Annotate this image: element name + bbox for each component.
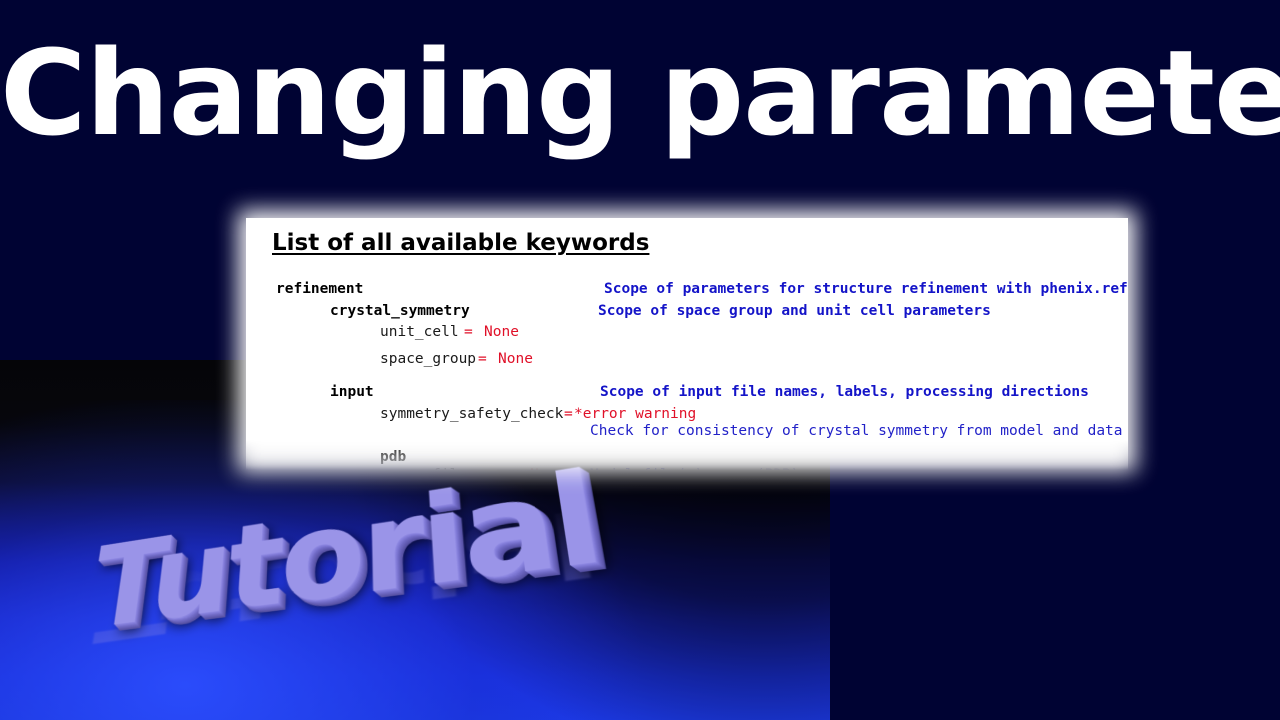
- code-param-space-group: space_group: [380, 352, 476, 367]
- slide-canvas: Tutorial Tutorial Changing parameters Li…: [0, 0, 1280, 720]
- panel-heading: List of all available keywords: [272, 230, 649, 256]
- code-param-unit-cell: unit_cell: [380, 325, 459, 340]
- code-eq-unit-cell: =: [464, 325, 473, 340]
- code-value-space-group: None: [498, 352, 533, 367]
- code-keyword-input: input: [330, 385, 374, 400]
- code-eq-symmetry-safety-check: =: [564, 407, 573, 422]
- panel-surface: List of all available keywords refinemen…: [246, 218, 1128, 470]
- code-eq-space-group: =: [478, 352, 487, 367]
- code-param-file-name: file_name: [432, 468, 511, 470]
- code-desc-input: Scope of input file names, labels, proce…: [600, 385, 1089, 400]
- code-keyword-pdb: pdb: [380, 450, 406, 465]
- code-eq-file-name: =: [512, 468, 521, 470]
- code-value-symmetry-safety-check: *error warning: [574, 407, 696, 422]
- code-value-unit-cell: None: [484, 325, 519, 340]
- code-desc-crystal-symmetry: Scope of space group and unit cell param…: [598, 304, 991, 319]
- code-desc-refinement: Scope of parameters for structure refine…: [604, 282, 1128, 297]
- code-keyword-crystal-symmetry: crystal_symmetry: [330, 304, 470, 319]
- code-keyword-refinement: refinement: [276, 282, 363, 297]
- slide-title: Changing parameters: [0, 34, 1280, 152]
- code-value-file-name: None: [530, 468, 565, 470]
- code-param-symmetry-safety-check: symmetry_safety_check: [380, 407, 563, 422]
- keywords-panel: List of all available keywords refinemen…: [238, 210, 1136, 472]
- code-desc-symmetry-safety-check: Check for consistency of crystal symmetr…: [590, 424, 1128, 439]
- code-desc-file-name: Model file(s) name (PDB): [590, 468, 800, 470]
